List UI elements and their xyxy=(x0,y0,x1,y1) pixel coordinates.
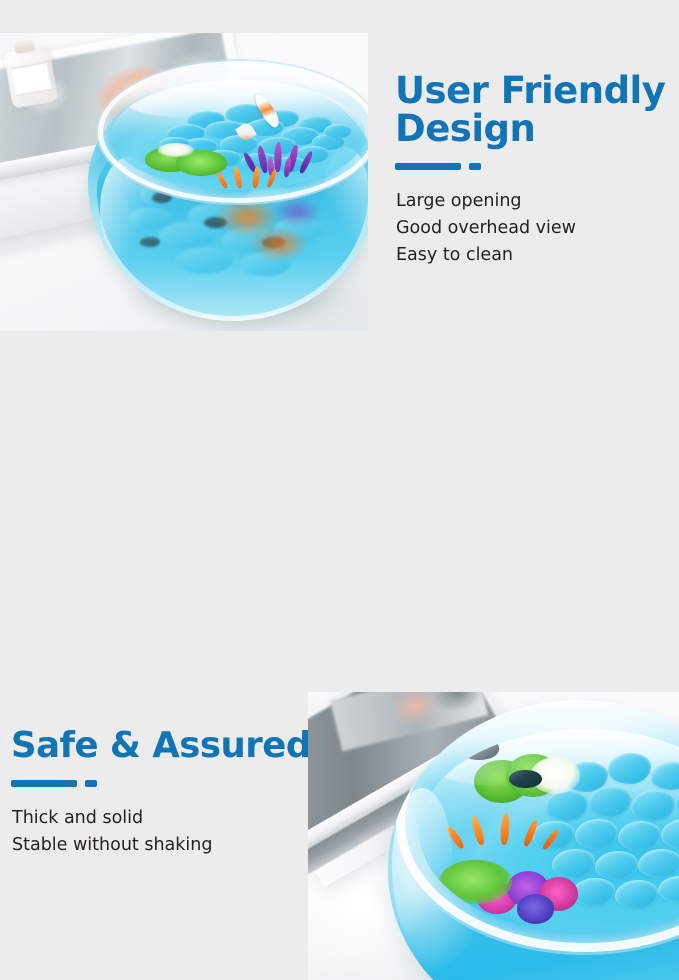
bottle-label xyxy=(11,62,51,96)
feature-list-user-friendly: Large opening Good overhead view Easy to… xyxy=(396,188,679,269)
divider-dash xyxy=(85,780,97,787)
bowl-water-surface xyxy=(111,80,365,190)
feature-item: Thick and solid xyxy=(12,805,311,832)
fishbowl-photo-bottom xyxy=(308,692,679,980)
feature-item: Good overhead view xyxy=(396,215,679,242)
divider-bar xyxy=(11,780,77,787)
divider-icon xyxy=(11,780,311,788)
divider-bar xyxy=(395,163,461,170)
headline-line-2: Design xyxy=(395,107,535,150)
divider-icon xyxy=(395,163,679,171)
fishbowl-top xyxy=(88,61,368,331)
headline-user-friendly: User Friendly Design xyxy=(395,72,679,149)
plant-orange xyxy=(218,164,299,190)
bowl-rim-opening xyxy=(98,61,368,203)
text-block-user-friendly: User Friendly Design Large opening Good … xyxy=(395,72,679,269)
feature-item: Stable without shaking xyxy=(12,832,311,859)
headline-safe-assured: Safe & Assured xyxy=(11,728,311,765)
feature-list-safe-assured: Thick and solid Stable without shaking xyxy=(12,805,311,859)
bottle-cap xyxy=(14,39,36,54)
feature-item: Large opening xyxy=(396,188,679,215)
fishbowl-photo-top xyxy=(0,33,368,331)
headline-line-1: User Friendly xyxy=(395,69,665,112)
divider-dash xyxy=(469,163,481,170)
panel-safe-assured: Safe & Assured Thick and solid Stable wi… xyxy=(0,340,679,679)
panel-user-friendly: User Friendly Design Large opening Good … xyxy=(0,0,679,340)
perfume-bottle xyxy=(3,45,58,108)
text-block-safe-assured: Safe & Assured Thick and solid Stable wi… xyxy=(11,728,311,859)
feature-item: Easy to clean xyxy=(396,242,679,269)
product-feature-infographic: User Friendly Design Large opening Good … xyxy=(0,0,679,679)
